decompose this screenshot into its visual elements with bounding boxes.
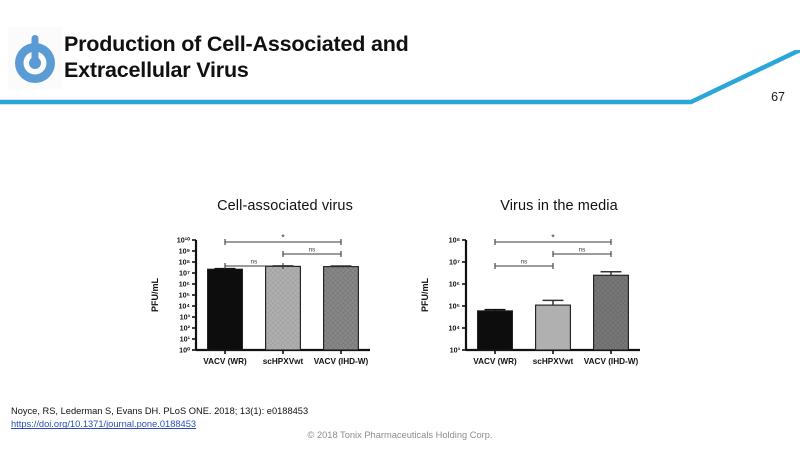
bar-chart-cell-associated-virus: 10⁰10¹10²10³10⁴10⁵10⁶10⁷10⁸10⁹10¹⁰PFU/mL… [148, 228, 378, 388]
chart-title: Virus in the media [418, 198, 678, 214]
x-axis-category-label: VACV (WR) [203, 357, 247, 366]
y-axis-tick-label: 10² [180, 324, 191, 333]
bar [324, 267, 359, 350]
y-axis-tick-label: 10⁶ [449, 280, 460, 289]
bar [536, 305, 571, 350]
x-axis-category-label: VACV (IHD-W) [584, 357, 639, 366]
significance-label: ns [521, 259, 528, 266]
y-axis-tick-label: 10⁸ [449, 236, 460, 245]
x-axis-category-label: VACV (IHD-W) [314, 357, 369, 366]
y-axis-tick-label: 10⁹ [179, 247, 190, 256]
header-accent-line [0, 50, 800, 110]
significance-label: ns [251, 259, 258, 266]
y-axis-tick-label: 10⁰ [179, 346, 190, 355]
citation: Noyce, RS, Lederman S, Evans DH. PLoS ON… [11, 405, 308, 432]
y-axis-tick-label: 10⁵ [449, 302, 460, 311]
y-axis-tick-label: 10⁴ [178, 302, 190, 311]
chart-panel-virus-in-the-media: Virus in the media 10³10⁴10⁵10⁶10⁷10⁸PFU… [418, 198, 678, 398]
significance-label: ns [579, 247, 586, 254]
y-axis-tick-label: 10⁷ [179, 269, 190, 278]
chart-title: Cell-associated virus [148, 198, 408, 214]
slide-canvas: Production of Cell-Associated and Extrac… [0, 0, 800, 449]
page-number: 67 [771, 90, 785, 104]
y-axis-tick-label: 10⁷ [449, 258, 460, 267]
copyright-notice: © 2018 Tonix Pharmaceuticals Holding Cor… [0, 430, 800, 440]
significance-label: * [281, 233, 285, 243]
y-axis-tick-label: 10⁵ [179, 291, 190, 300]
y-axis-tick-label: 10⁸ [179, 258, 190, 267]
y-axis-tick-label: 10⁴ [448, 324, 460, 333]
significance-label: ns [309, 247, 316, 254]
y-axis-tick-label: 10³ [450, 346, 461, 355]
x-axis-category-label: VACV (WR) [473, 357, 517, 366]
bar [478, 311, 513, 350]
significance-label: * [551, 233, 555, 243]
bar [208, 269, 243, 350]
citation-reference: Noyce, RS, Lederman S, Evans DH. PLoS ON… [11, 406, 308, 416]
y-axis-tick-label: 10¹ [180, 335, 191, 344]
bar [594, 275, 629, 350]
y-axis-title: PFU/mL [150, 278, 160, 313]
x-axis-category-label: scHPXVwt [533, 357, 574, 366]
y-axis-tick-label: 10⁶ [179, 280, 190, 289]
y-axis-tick-label: 10¹⁰ [177, 236, 190, 245]
bar [266, 266, 301, 350]
chart-panel-cell-associated-virus: Cell-associated virus 10⁰10¹10²10³10⁴10⁵… [148, 198, 408, 398]
x-axis-category-label: scHPXVwt [263, 357, 304, 366]
figure-panels: Cell-associated virus 10⁰10¹10²10³10⁴10⁵… [0, 198, 800, 398]
y-axis-tick-label: 10³ [180, 313, 191, 322]
bar-chart-virus-in-the-media: 10³10⁴10⁵10⁶10⁷10⁸PFU/mLVACV (WR)scHPXVw… [418, 228, 648, 388]
y-axis-title: PFU/mL [420, 278, 430, 313]
